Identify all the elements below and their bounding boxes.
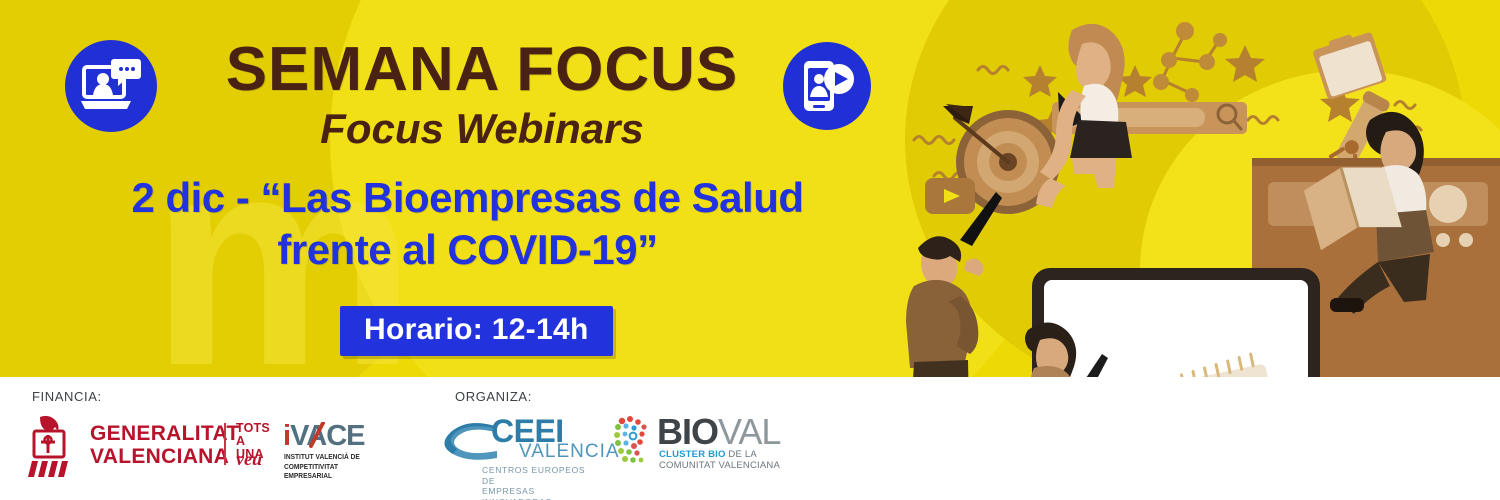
ivace-subtitle-1: INSTITUT VALENCIÀ DE xyxy=(284,452,380,462)
ceei-subtitle-2: EMPRESAS INNOVADORAS xyxy=(482,486,593,500)
tagline-line-3: veu xyxy=(236,449,262,470)
bioval-cluster-label: CLUSTER BIO xyxy=(659,449,726,460)
ivace-subtitle-2: COMPETITIVITAT EMPRESARIAL xyxy=(284,462,380,481)
schedule-badge: Horario: 12-14h xyxy=(340,306,613,356)
generalitat-crest-icon xyxy=(28,415,74,479)
ceei-region: VALENCIA xyxy=(519,442,620,462)
webinar-banner: m xyxy=(0,0,1500,500)
generalitat-line-1: GENERALITAT xyxy=(90,422,240,445)
generalitat-line-2: VALENCIANA xyxy=(90,445,240,468)
laptop-webinar-icon xyxy=(65,40,157,132)
headline-line-1: 2 dic - “Las Bioempresas de Salud xyxy=(45,172,890,224)
ceei-subtitle: CENTROS EUROPEOS DE EMPRESAS INNOVADORAS xyxy=(482,465,593,500)
bioval-wordmark: BIOVAL xyxy=(657,413,780,451)
generalitat-divider xyxy=(224,423,226,465)
bioval-sub-rest: DE LA xyxy=(726,449,757,460)
mobile-play-icon xyxy=(783,42,871,130)
event-headline: 2 dic - “Las Bioempresas de Salud frente… xyxy=(45,172,890,276)
headline-line-2: frente al COVID-19” xyxy=(45,224,890,276)
page-subtitle: Focus Webinars xyxy=(172,104,792,154)
bioval-dna-icon xyxy=(612,415,658,475)
logo-bioval[interactable]: BIOVAL CLUSTER BIO DE LA COMUNITAT VALEN… xyxy=(612,413,797,479)
page-title: SEMANA FOCUS xyxy=(172,36,792,104)
play-button-icon xyxy=(925,178,975,214)
ceei-subtitle-1: CENTROS EUROPEOS DE xyxy=(482,465,593,486)
ivace-subtitle: INSTITUT VALENCIÀ DE COMPETITIVITAT EMPR… xyxy=(284,452,380,481)
logo-generalitat-valenciana[interactable]: GENERALITAT VALENCIANA TOTS A UNA veu xyxy=(28,415,260,481)
financia-label: FINANCIA: xyxy=(32,389,102,404)
logo-ceei-valencia[interactable]: CEEI VALENCIA CENTROS EUROPEOS DE EMPRES… xyxy=(443,414,593,482)
folder-icon xyxy=(1311,28,1387,100)
bioval-letters-bio: BIO xyxy=(657,411,718,452)
bioval-letters-val: VAL xyxy=(718,411,780,452)
bioval-subtitle-2: COMUNITAT VALENCIANA xyxy=(659,460,780,472)
ivace-letter-i: i xyxy=(283,420,290,452)
logo-ivace[interactable]: iVACE INSTITUT VALENCIÀ DE COMPETITIVITA… xyxy=(283,421,393,479)
title-block: SEMANA FOCUS Focus Webinars xyxy=(60,36,890,146)
organiza-label: ORGANIZA: xyxy=(455,389,532,404)
molecule-icon xyxy=(1153,22,1227,102)
generalitat-wordmark: GENERALITAT VALENCIANA xyxy=(90,422,240,468)
ivace-slash-icon xyxy=(305,422,329,448)
